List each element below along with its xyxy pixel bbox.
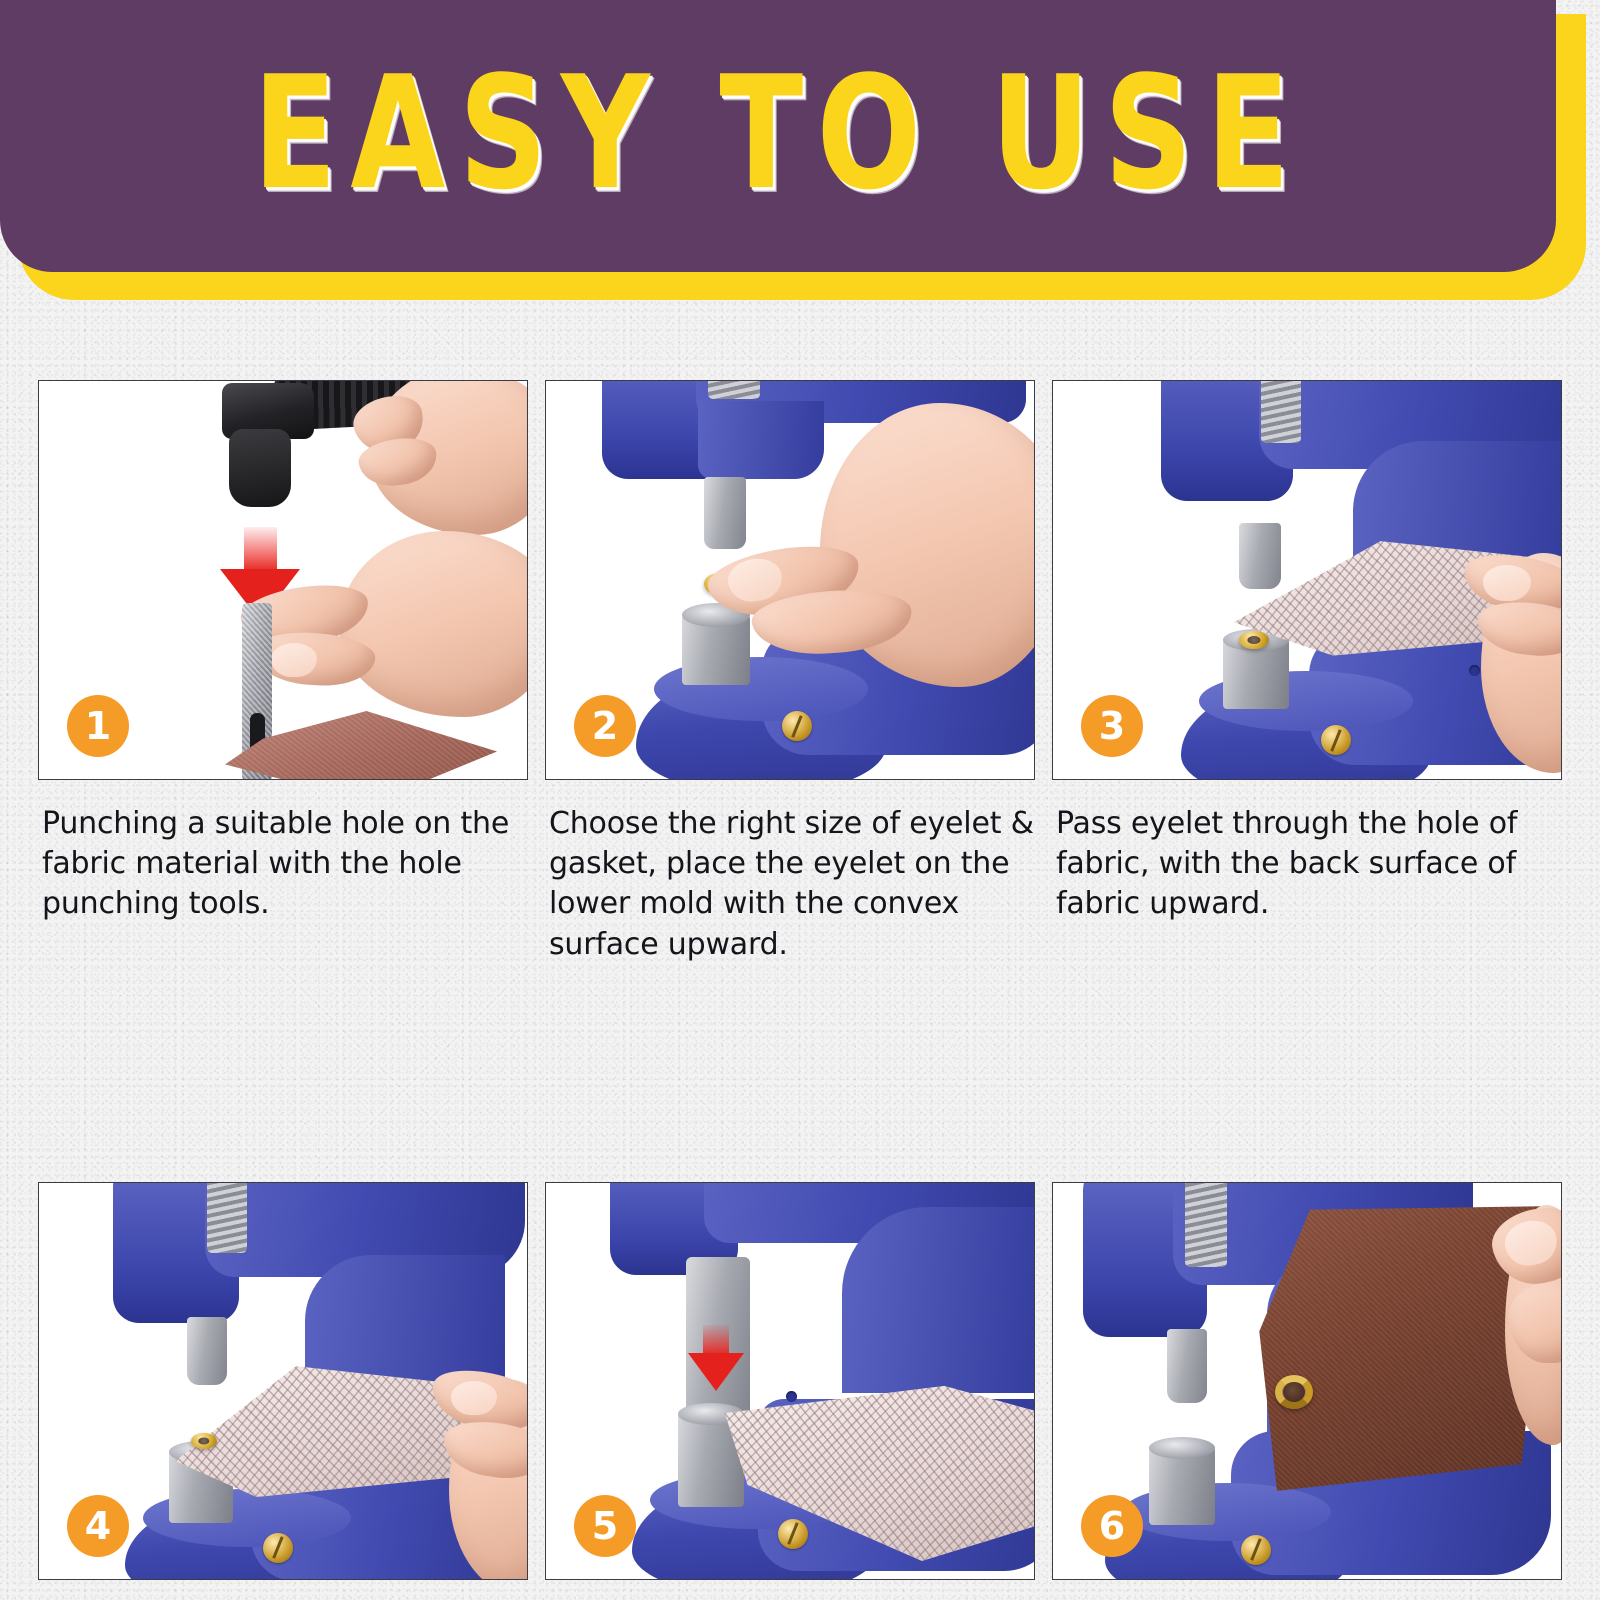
steps-grid: 1 Punching a suitable hole on the fabric…	[38, 380, 1562, 1600]
step-badge-2: 2	[574, 695, 636, 757]
step-badge-4: 4	[67, 1495, 129, 1557]
scene-press-place-eyelet: 2	[546, 381, 1034, 779]
page-title: EASY TO USE	[253, 49, 1303, 212]
grommet-hole	[1283, 1382, 1305, 1402]
upper-punch	[187, 1317, 227, 1385]
gold-eyelet-on-anvil	[1239, 631, 1269, 649]
scene-press-down-arrow: 5	[546, 1183, 1034, 1579]
step-badge-3: 3	[1081, 695, 1143, 757]
scene-press-gasket-insert: 4	[39, 1183, 527, 1579]
scene-press-mesh-fabric: 3	[1053, 381, 1561, 779]
step-photo-4: 4	[38, 1182, 528, 1580]
step-badge-6: 6	[1081, 1495, 1143, 1557]
lower-anvil-top	[1149, 1437, 1215, 1459]
step-photo-3: 3	[1052, 380, 1562, 780]
step-photo-1: 1	[38, 380, 528, 780]
base-screw	[778, 1519, 808, 1549]
base-screw	[1241, 1535, 1271, 1565]
machine-spring	[1185, 1182, 1227, 1267]
fingernail	[1483, 565, 1531, 601]
upper-punch	[1239, 523, 1281, 589]
base-screw	[1321, 725, 1351, 755]
infographic-page: EASY TO USE	[0, 0, 1600, 1600]
upper-punch	[1167, 1329, 1207, 1403]
step-photo-5: 5	[545, 1182, 1035, 1580]
arrow-stem	[244, 527, 277, 573]
step-caption-1: Punching a suitable hole on the fabric m…	[38, 804, 528, 925]
step-card-3: 3 Pass eyelet through the hole of fabric…	[1052, 380, 1562, 965]
arrow-head	[688, 1353, 744, 1391]
base-pin-hole	[1469, 665, 1480, 676]
machine-neck	[698, 401, 824, 479]
upper-punch	[704, 477, 746, 549]
step-photo-2: 2	[545, 380, 1035, 780]
header-banner: EASY TO USE	[0, 0, 1586, 300]
step-badge-1: 1	[67, 695, 129, 757]
scene-hammer-punch-leather: 1	[39, 381, 527, 779]
machine-spring	[207, 1182, 247, 1253]
base-screw	[263, 1533, 293, 1563]
step-card-2: 2 Choose the right size of eyelet & gask…	[545, 380, 1035, 965]
base-pin-hole	[786, 1391, 797, 1402]
step-caption-3: Pass eyelet through the hole of fabric, …	[1052, 804, 1562, 925]
thumbnail	[271, 643, 317, 677]
scene-finished-leather-grommet: 6	[1053, 1183, 1561, 1579]
step-card-1: 1 Punching a suitable hole on the fabric…	[38, 380, 528, 965]
machine-spring	[1261, 380, 1301, 443]
step-card-5: 5 Press down the handle to secure the ey…	[545, 1182, 1035, 1600]
hammer-face	[229, 429, 291, 507]
banner-panel: EASY TO USE	[0, 0, 1556, 272]
base-screw	[782, 711, 812, 741]
step-photo-6: 6	[1052, 1182, 1562, 1580]
step-card-4: 4 Insert the gasket into the eyelet, wit…	[38, 1182, 528, 1600]
machine-spring	[708, 380, 760, 399]
palm-lower	[339, 531, 528, 717]
fingernail	[451, 1381, 497, 1415]
step-caption-2: Choose the right size of eyelet & gasket…	[545, 804, 1035, 965]
step-card-6: 6 The effect is shown in the image.	[1052, 1182, 1562, 1600]
gasket-on-fabric	[191, 1433, 217, 1449]
step-badge-5: 5	[574, 1495, 636, 1557]
machine-neck	[842, 1207, 1035, 1393]
